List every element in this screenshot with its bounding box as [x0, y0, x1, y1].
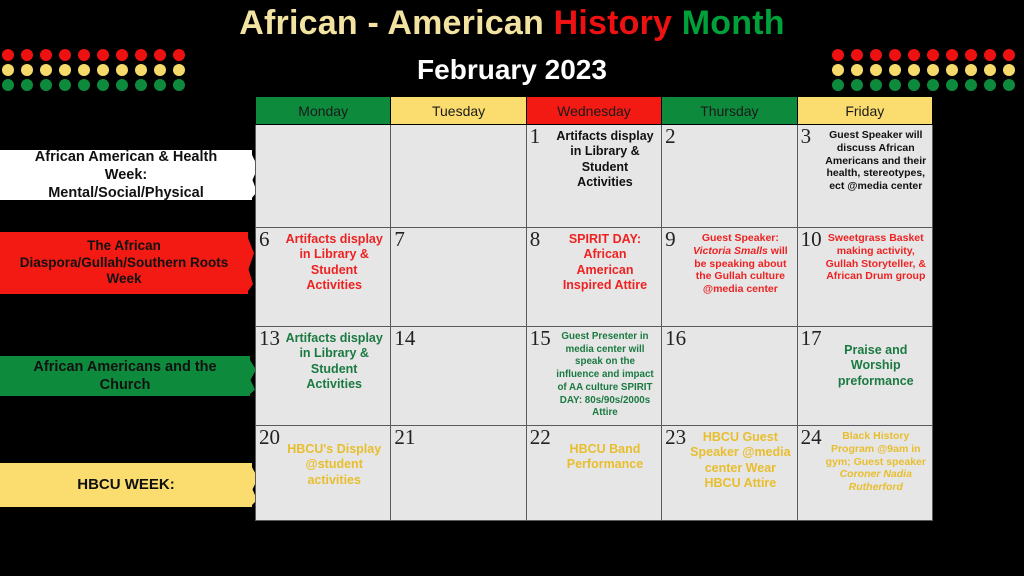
- yellow-dot-icon: [59, 64, 71, 76]
- dot-column: [946, 49, 958, 91]
- day-number: 23: [665, 426, 686, 448]
- green-dot-icon: [984, 79, 996, 91]
- day-number: 16: [665, 327, 686, 349]
- day-event-text: Guest Speaker: Victoria Smalls will be s…: [689, 232, 791, 296]
- calendar-day-cell[interactable]: 21: [391, 426, 526, 521]
- dot-column: [908, 49, 920, 91]
- green-dot-icon: [870, 79, 882, 91]
- emphasized-name: Coroner Nadia Rutherford: [840, 468, 912, 493]
- day-number: 6: [259, 228, 270, 250]
- dot-column: [59, 49, 71, 91]
- yellow-dot-icon: [946, 64, 958, 76]
- calendar-day-cell[interactable]: 10Sweetgrass Basket making activity, Gul…: [797, 228, 932, 327]
- yellow-dot-icon: [908, 64, 920, 76]
- calendar-table: Monday Tuesday Wednesday Thursday Friday…: [255, 96, 933, 521]
- title-part-month: Month: [682, 4, 785, 42]
- red-dot-icon: [78, 49, 90, 61]
- green-dot-icon: [946, 79, 958, 91]
- green-dot-icon: [2, 79, 14, 91]
- yellow-dot-icon: [832, 64, 844, 76]
- green-dot-icon: [154, 79, 166, 91]
- green-dot-icon: [97, 79, 109, 91]
- day-event-text: Artifacts display in Library & Student A…: [554, 129, 656, 190]
- week-label-line1: African American & Health Week:: [12, 148, 240, 184]
- green-dot-icon: [135, 79, 147, 91]
- yellow-dot-icon: [2, 64, 14, 76]
- yellow-dot-icon: [154, 64, 166, 76]
- week-label-line1: HBCU WEEK:: [77, 476, 175, 495]
- red-dot-icon: [1003, 49, 1015, 61]
- calendar-week-row: 6Artifacts display in Library & Student …: [256, 228, 933, 327]
- day-event-text: HBCU Guest Speaker @media center Wear HB…: [689, 430, 791, 491]
- week-label-line3: Week: [20, 271, 229, 288]
- day-number: 9: [665, 228, 676, 250]
- green-dot-icon: [1003, 79, 1015, 91]
- day-number: 20: [259, 426, 280, 448]
- calendar-week-row: 1Artifacts display in Library & Student …: [256, 125, 933, 228]
- yellow-dot-icon: [116, 64, 128, 76]
- red-dot-icon: [946, 49, 958, 61]
- green-dot-icon: [40, 79, 52, 91]
- dot-column: [154, 49, 166, 91]
- week-label-diaspora-week: The African Diaspora/Gullah/Southern Roo…: [0, 232, 248, 294]
- dot-column: [965, 49, 977, 91]
- red-dot-icon: [2, 49, 14, 61]
- dot-column: [870, 49, 882, 91]
- calendar-day-cell[interactable]: 2: [662, 125, 797, 228]
- yellow-dot-icon: [927, 64, 939, 76]
- calendar-day-cell[interactable]: 9Guest Speaker: Victoria Smalls will be …: [662, 228, 797, 327]
- yellow-dot-icon: [78, 64, 90, 76]
- green-dot-icon: [173, 79, 185, 91]
- title-part-african-american: African - American: [239, 4, 553, 42]
- yellow-dot-icon: [984, 64, 996, 76]
- day-event-text: Praise and Worship preformance: [825, 343, 927, 389]
- day-number: 22: [530, 426, 551, 448]
- day-number: 24: [801, 426, 822, 448]
- day-number: 15: [530, 327, 551, 349]
- red-dot-icon: [851, 49, 863, 61]
- week-label-line2: Mental/Social/Physical: [12, 184, 240, 202]
- calendar-day-cell[interactable]: 3Guest Speaker will discuss African Amer…: [797, 125, 932, 228]
- dot-column: [832, 49, 844, 91]
- yellow-dot-icon: [135, 64, 147, 76]
- day-event-text: Artifacts display in Library & Student A…: [283, 232, 385, 293]
- day-event-text: Artifacts display in Library & Student A…: [283, 331, 385, 392]
- calendar-day-cell[interactable]: 13Artifacts display in Library & Student…: [256, 327, 391, 426]
- green-dot-icon: [908, 79, 920, 91]
- yellow-dot-icon: [870, 64, 882, 76]
- day-number: 7: [394, 228, 405, 250]
- column-header-thursday: Thursday: [662, 97, 797, 125]
- day-number: 2: [665, 125, 676, 147]
- column-header-monday: Monday: [256, 97, 391, 125]
- dot-column: [927, 49, 939, 91]
- red-dot-icon: [889, 49, 901, 61]
- yellow-dot-icon: [40, 64, 52, 76]
- dot-column: [851, 49, 863, 91]
- day-number: 10: [801, 228, 822, 250]
- dot-strip-left: [2, 47, 192, 93]
- red-dot-icon: [59, 49, 71, 61]
- week-label-church-week: African Americans and the Church: [0, 356, 250, 396]
- red-dot-icon: [116, 49, 128, 61]
- red-dot-icon: [927, 49, 939, 61]
- red-dot-icon: [908, 49, 920, 61]
- title-part-history: History: [554, 4, 682, 42]
- day-event-text: HBCU's Display @student activities: [283, 442, 385, 488]
- column-header-tuesday: Tuesday: [391, 97, 526, 125]
- column-header-wednesday: Wednesday: [526, 97, 661, 125]
- green-dot-icon: [78, 79, 90, 91]
- day-event-text: SPIRIT DAY: African American Inspired At…: [554, 232, 656, 293]
- week-label-hbcu-week: HBCU WEEK:: [0, 463, 252, 507]
- day-number: 17: [801, 327, 822, 349]
- yellow-dot-icon: [851, 64, 863, 76]
- calendar-day-cell[interactable]: 6Artifacts display in Library & Student …: [256, 228, 391, 327]
- calendar-day-cell[interactable]: 1Artifacts display in Library & Student …: [526, 125, 661, 228]
- day-event-text: Guest Speaker will discuss African Ameri…: [825, 129, 927, 193]
- green-dot-icon: [832, 79, 844, 91]
- calendar-day-cell[interactable]: 24Black History Program @9am in gym; Gue…: [797, 426, 932, 521]
- day-number: 21: [394, 426, 415, 448]
- dot-column: [40, 49, 52, 91]
- column-header-friday: Friday: [797, 97, 932, 125]
- calendar-day-cell[interactable]: 8SPIRIT DAY: African American Inspired A…: [526, 228, 661, 327]
- red-dot-icon: [40, 49, 52, 61]
- week-label-line1: The African: [20, 238, 229, 255]
- dot-column: [889, 49, 901, 91]
- yellow-dot-icon: [21, 64, 33, 76]
- yellow-dot-icon: [97, 64, 109, 76]
- calendar-day-cell[interactable]: 16: [662, 327, 797, 426]
- dot-strip-right: [832, 47, 1022, 93]
- red-dot-icon: [832, 49, 844, 61]
- calendar-day-cell[interactable]: 23HBCU Guest Speaker @media center Wear …: [662, 426, 797, 521]
- red-dot-icon: [97, 49, 109, 61]
- week-label-line2: Diaspora/Gullah/Southern Roots: [20, 255, 229, 272]
- green-dot-icon: [889, 79, 901, 91]
- week-label-line1: African Americans and the Church: [12, 358, 238, 394]
- day-event-text: Black History Program @9am in gym; Guest…: [825, 430, 927, 494]
- dot-column: [173, 49, 185, 91]
- day-number: 13: [259, 327, 280, 349]
- calendar-day-cell[interactable]: 17Praise and Worship preformance: [797, 327, 932, 426]
- calendar-day-cell[interactable]: 15Guest Presenter in media center will s…: [526, 327, 661, 426]
- day-event-text: HBCU Band Performance: [554, 442, 656, 473]
- yellow-dot-icon: [889, 64, 901, 76]
- green-dot-icon: [851, 79, 863, 91]
- calendar-week-row: 20HBCU's Display @student activities2122…: [256, 426, 933, 521]
- day-number: 1: [530, 125, 541, 147]
- green-dot-icon: [927, 79, 939, 91]
- red-dot-icon: [21, 49, 33, 61]
- calendar-day-cell[interactable]: 22HBCU Band Performance: [526, 426, 661, 521]
- red-dot-icon: [984, 49, 996, 61]
- red-dot-icon: [870, 49, 882, 61]
- yellow-dot-icon: [1003, 64, 1015, 76]
- calendar-day-cell[interactable]: 7: [391, 228, 526, 327]
- calendar-day-cell[interactable]: 20HBCU's Display @student activities: [256, 426, 391, 521]
- dot-column: [116, 49, 128, 91]
- red-dot-icon: [965, 49, 977, 61]
- dot-column: [78, 49, 90, 91]
- page-title: African - American History Month: [0, 4, 1024, 43]
- dot-column: [2, 49, 14, 91]
- dot-column: [21, 49, 33, 91]
- red-dot-icon: [135, 49, 147, 61]
- calendar-day-cell[interactable]: [391, 125, 526, 228]
- day-number: 3: [801, 125, 812, 147]
- yellow-dot-icon: [965, 64, 977, 76]
- dot-column: [984, 49, 996, 91]
- day-event-text: Guest Presenter in media center will spe…: [554, 331, 656, 420]
- emphasized-name: Victoria Smalls: [693, 245, 768, 257]
- calendar-day-cell[interactable]: 14: [391, 327, 526, 426]
- week-label-health-week: African American & Health Week: Mental/S…: [0, 150, 252, 200]
- yellow-dot-icon: [173, 64, 185, 76]
- calendar-week-row: 13Artifacts display in Library & Student…: [256, 327, 933, 426]
- day-number: 8: [530, 228, 541, 250]
- dot-column: [1003, 49, 1015, 91]
- calendar-header-row: Monday Tuesday Wednesday Thursday Friday: [256, 97, 933, 125]
- red-dot-icon: [173, 49, 185, 61]
- red-dot-icon: [154, 49, 166, 61]
- dot-column: [135, 49, 147, 91]
- day-number: 14: [394, 327, 415, 349]
- dot-column: [97, 49, 109, 91]
- calendar-day-cell[interactable]: [256, 125, 391, 228]
- green-dot-icon: [965, 79, 977, 91]
- green-dot-icon: [21, 79, 33, 91]
- green-dot-icon: [59, 79, 71, 91]
- day-event-text: Sweetgrass Basket making activity, Gulla…: [825, 232, 927, 283]
- green-dot-icon: [116, 79, 128, 91]
